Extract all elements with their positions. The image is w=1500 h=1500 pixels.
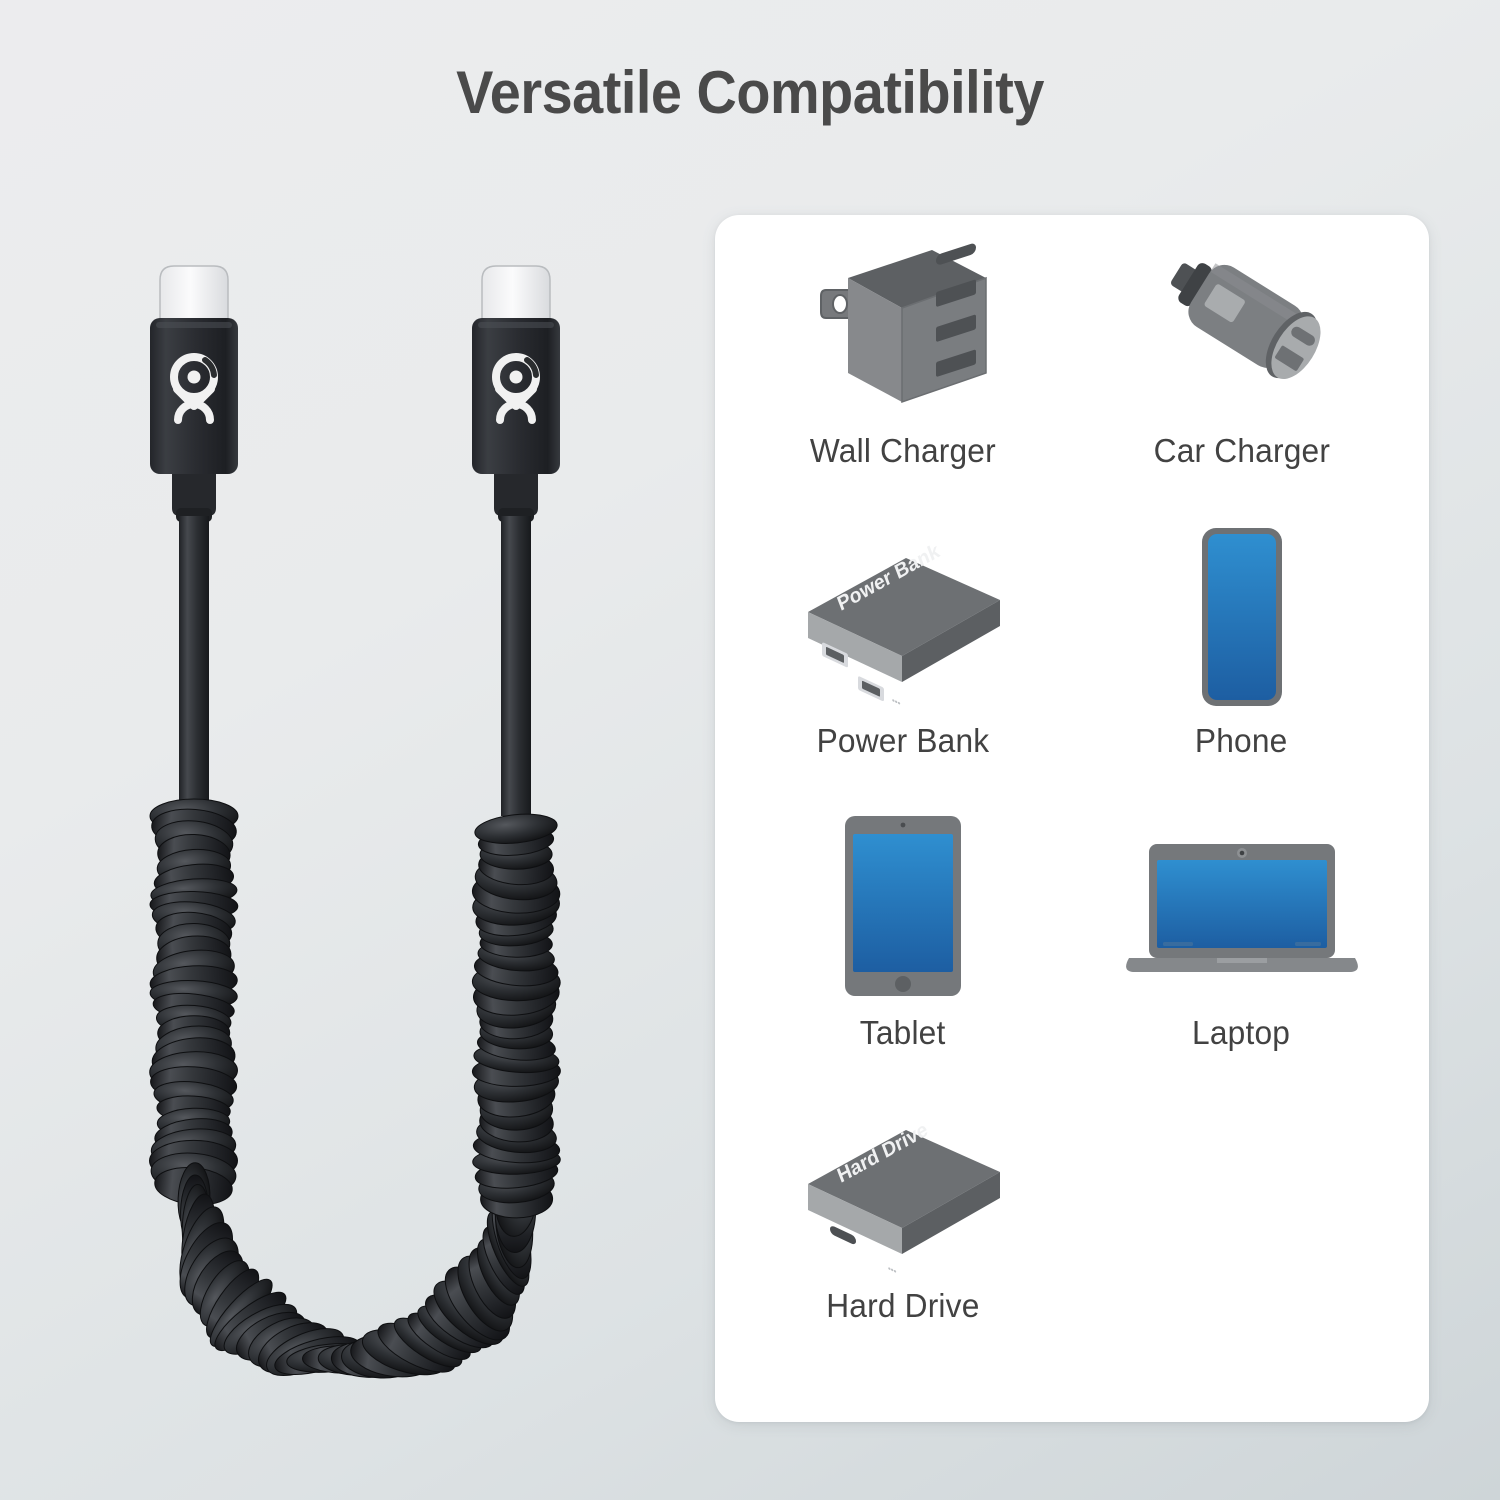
- cable-stem-left: [179, 516, 209, 816]
- wall-charger-icon: [798, 242, 1008, 427]
- cable-product-image: {}: [0, 170, 700, 1450]
- device-label: Car Charger: [1153, 432, 1329, 470]
- device-label: Hard Drive: [826, 1287, 979, 1325]
- page-title: Versatile Compatibility: [53, 58, 1448, 127]
- usb-c-connector-right: [472, 266, 560, 522]
- usb-c-connector-left: [150, 266, 238, 522]
- device-label: Tablet: [860, 1014, 946, 1052]
- device-grid: Wall Charger: [715, 215, 1429, 1422]
- device-cell-laptop[interactable]: Laptop: [1072, 802, 1411, 1092]
- device-cell-phone[interactable]: Phone: [1072, 512, 1411, 802]
- device-label: Laptop: [1192, 1014, 1290, 1052]
- car-charger-icon: [1132, 242, 1352, 427]
- device-cell-empty: [1072, 1092, 1411, 1364]
- cable-coil: {}: [149, 799, 560, 1385]
- device-cell-wall-charger[interactable]: Wall Charger: [733, 237, 1072, 512]
- device-label: Wall Charger: [809, 432, 995, 470]
- cable-stem-right: [501, 516, 531, 816]
- compatibility-card: Wall Charger: [715, 215, 1429, 1422]
- svg-text:•••: •••: [892, 694, 900, 704]
- power-bank-icon: ••• Power Bank: [788, 530, 1018, 705]
- laptop-icon: [1117, 826, 1367, 991]
- tablet-icon: [823, 808, 983, 1008]
- device-cell-power-bank[interactable]: ••• Power Bank Power Bank: [733, 512, 1072, 802]
- device-cell-tablet[interactable]: Tablet: [733, 802, 1072, 1092]
- phone-icon: [1172, 520, 1312, 715]
- device-label: Phone: [1195, 722, 1288, 760]
- hard-drive-icon: ••• Hard Drive: [788, 1102, 1018, 1277]
- device-cell-car-charger[interactable]: Car Charger: [1072, 237, 1411, 512]
- device-label: Power Bank: [816, 722, 989, 760]
- svg-text:•••: •••: [888, 1263, 896, 1276]
- device-cell-hard-drive[interactable]: ••• Hard Drive Hard Drive: [733, 1092, 1072, 1364]
- coiled-cable-illustration: {}: [0, 170, 700, 1450]
